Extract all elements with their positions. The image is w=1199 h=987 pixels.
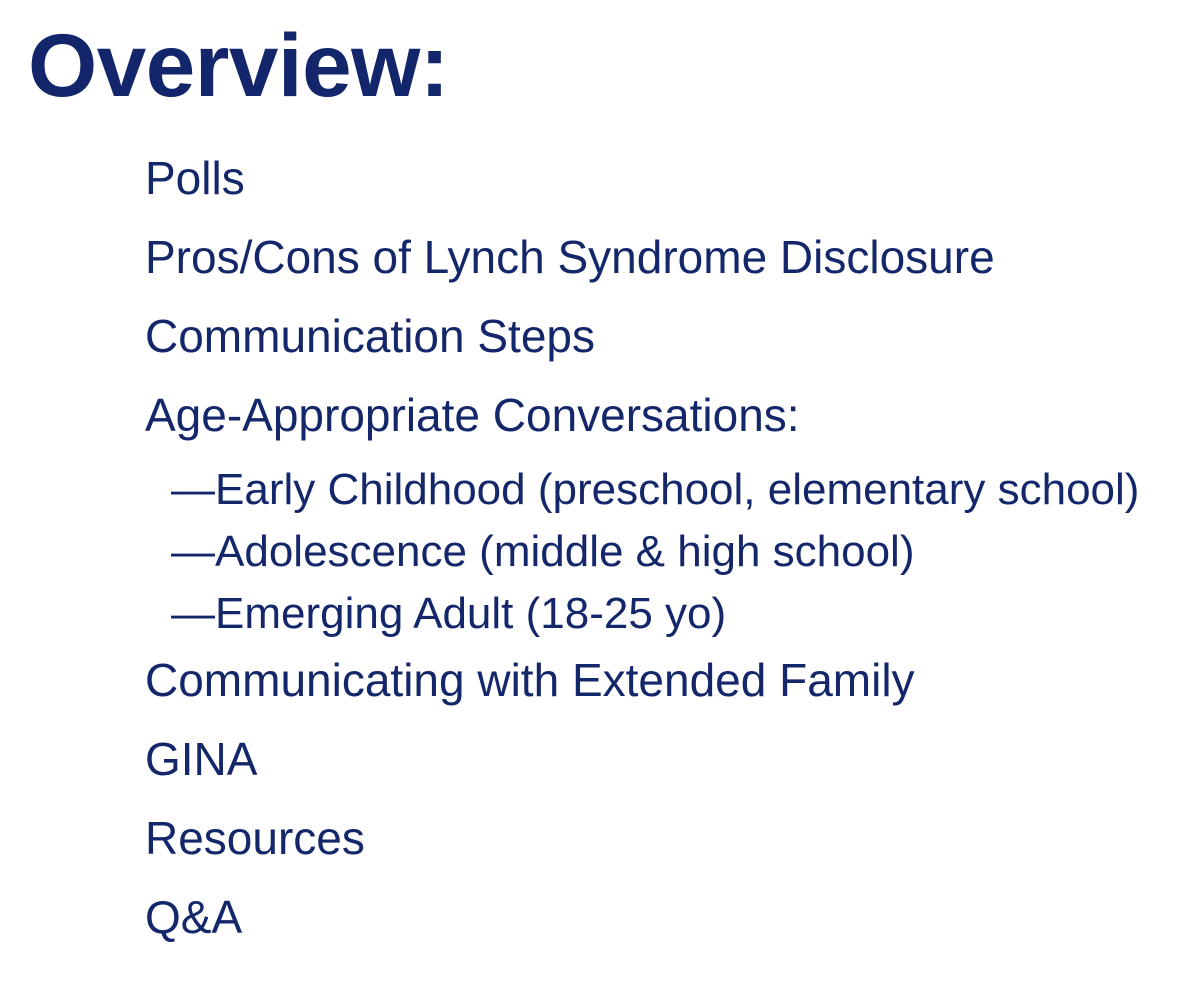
list-item-label: Q&A <box>145 885 242 940</box>
list-item: Communicating with Extended Family <box>0 648 1199 727</box>
list-item: Q&A <box>0 885 1199 964</box>
list-item-label: Polls <box>145 146 245 201</box>
page-title: Overview: <box>28 21 449 110</box>
list-item-label: Communication Steps <box>145 304 595 359</box>
em-dash-icon: — <box>171 586 215 636</box>
list-item: Resources <box>0 806 1199 885</box>
em-dash-icon: — <box>171 462 215 512</box>
list-item-label: Pros/Cons of Lynch Syndrome Disclosure <box>145 225 995 280</box>
list-item-label: Communicating with Extended Family <box>145 648 915 703</box>
list-item: Polls <box>0 146 1199 225</box>
list-item-label: Age-Appropriate Conversations: <box>145 383 800 438</box>
sub-list-item: — Adolescence (middle & high school) <box>0 524 1199 586</box>
em-dash-icon: — <box>171 524 215 574</box>
list-item: Pros/Cons of Lynch Syndrome Disclosure <box>0 225 1199 304</box>
list-item-label: GINA <box>145 727 257 782</box>
sub-list-item-label: Adolescence (middle & high school) <box>215 524 915 574</box>
age-conversations-sublist: — Early Childhood (preschool, elementary… <box>0 462 1199 648</box>
list-item-label: Resources <box>145 806 365 861</box>
list-item: Age-Appropriate Conversations: <box>0 383 1199 462</box>
sub-list-item: — Emerging Adult (18-25 yo) <box>0 586 1199 648</box>
sub-list-item-label: Early Childhood (preschool, elementary s… <box>215 462 1139 512</box>
list-item: Communication Steps <box>0 304 1199 383</box>
slide-canvas: Overview: Polls Pros/Cons of Lynch Syndr… <box>0 0 1199 987</box>
overview-list: Polls Pros/Cons of Lynch Syndrome Disclo… <box>0 146 1199 964</box>
list-item: GINA <box>0 727 1199 806</box>
sub-list-item: — Early Childhood (preschool, elementary… <box>0 462 1199 524</box>
sub-list-item-label: Emerging Adult (18-25 yo) <box>215 586 726 636</box>
